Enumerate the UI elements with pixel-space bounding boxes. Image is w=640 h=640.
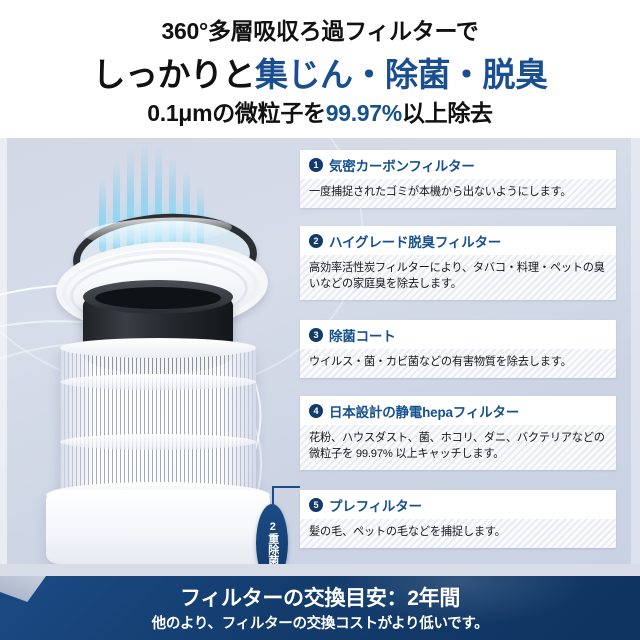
feature-number-badge-2: 2 [309,234,323,248]
footer-line-1: フィルターの交換目安：2年間 [0,582,640,612]
hepa-band [60,434,256,450]
feature-card-5[interactable]: 5 プレフィルター 髪の毛、ペットの毛などを捕捉します。 [300,490,616,548]
footer-line-2: 他のより、フィルターの交換コストがより低いです。 [0,612,640,633]
main-panel: 2重除菌 1 気密カーボンフィルター 一度捕捉されたゴミが本機から出ないようにし… [0,138,640,564]
header-line-3: 0.1μmの微粒子を99.97%以上除去 [0,94,640,128]
feature-card-3-title-row: 3 除菌コート [300,320,616,349]
feature-body-1: 一度捕捉されたゴミが本機から出ないようにします。 [300,179,616,208]
feature-card-2-title-row: 2 ハイグレード脱臭フィルター [300,226,616,255]
header-line-2-plain: しっかりと [93,56,256,93]
feature-title-4: 日本設計の静電hepaフィルター [329,401,519,421]
feature-number-badge-3: 3 [309,328,323,342]
feature-card-4-title-row: 4 日本設計の静電hepaフィルター [300,396,616,425]
header-line-2-accent: 集じん・除菌・脱臭 [255,56,548,93]
feature-title-1: 気密カーボンフィルター [329,155,475,175]
feature-number-badge-5: 5 [309,498,323,512]
feature-body-5: 髪の毛、ペットの毛などを捕捉します。 [300,519,616,548]
carbon-filter-opening [95,287,221,309]
hepa-band [60,374,256,390]
header-line-2: しっかりと集じん・除菌・脱臭 [0,48,640,96]
callout-connector-vertical-top [272,486,274,510]
infographic-page: 360°多層吸収ろ過フィルターで しっかりと集じん・除菌・脱臭 0.1μmの微粒… [0,0,640,640]
product-illustration [0,138,300,564]
feature-body-3: ウイルス・菌・カビ菌などの有害物質を除去します。 [300,349,616,378]
feature-card-2[interactable]: 2 ハイグレード脱臭フィルター 高効率活性炭フィルターにより、タバコ・料理・ペッ… [300,226,616,300]
header-banner: 360°多層吸収ろ過フィルターで しっかりと集じん・除菌・脱臭 0.1μmの微粒… [0,0,640,138]
panel-right-edge [631,138,640,564]
callout-connector-line-top [272,486,300,488]
feature-title-3: 除菌コート [329,325,396,345]
hepa-cylinder-top [60,338,256,358]
feature-card-3[interactable]: 3 除菌コート ウイルス・菌・カビ菌などの有害物質を除去します。 [300,320,616,378]
header-line-3-pre: 0.1μmの微粒子を [147,100,326,126]
footer-divider-strip [0,564,640,576]
feature-card-1[interactable]: 1 気密カーボンフィルター 一度捕捉されたゴミが本機から出ないようにします。 [300,150,616,208]
feature-body-4: 花粉、ハウスダスト、菌、ホコリ、ダニ、バクテリアなどの微粒子を 99.97% 以… [300,425,616,470]
feature-card-1-title-row: 1 気密カーボンフィルター [300,150,616,179]
feature-card-list: 1 気密カーボンフィルター 一度捕捉されたゴミが本機から出ないようにします。 2… [300,138,632,564]
feature-title-5: プレフィルター [329,495,422,515]
feature-title-2: ハイグレード脱臭フィルター [329,231,501,251]
feature-card-4[interactable]: 4 日本設計の静電hepaフィルター 花粉、ハウスダスト、菌、ホコリ、ダニ、バク… [300,396,616,470]
feature-body-2: 高効率活性炭フィルターにより、タバコ・料理・ペットの臭いなどの家庭臭を除去します… [300,255,616,300]
feature-number-badge-4: 4 [309,404,323,418]
dual-sterilization-label: 2重除菌 [266,521,278,565]
filter-base [46,490,270,564]
footer-banner: フィルターの交換目安：2年間 他のより、フィルターの交換コストがより低いです。 [0,576,640,640]
header-line-3-post: 以上除去 [402,100,493,126]
feature-number-badge-1: 1 [309,158,323,172]
feature-card-5-title-row: 5 プレフィルター [300,490,616,519]
header-line-1: 360°多層吸収ろ過フィルターで [0,12,640,46]
header-line-3-accent: 99.97% [326,100,402,126]
